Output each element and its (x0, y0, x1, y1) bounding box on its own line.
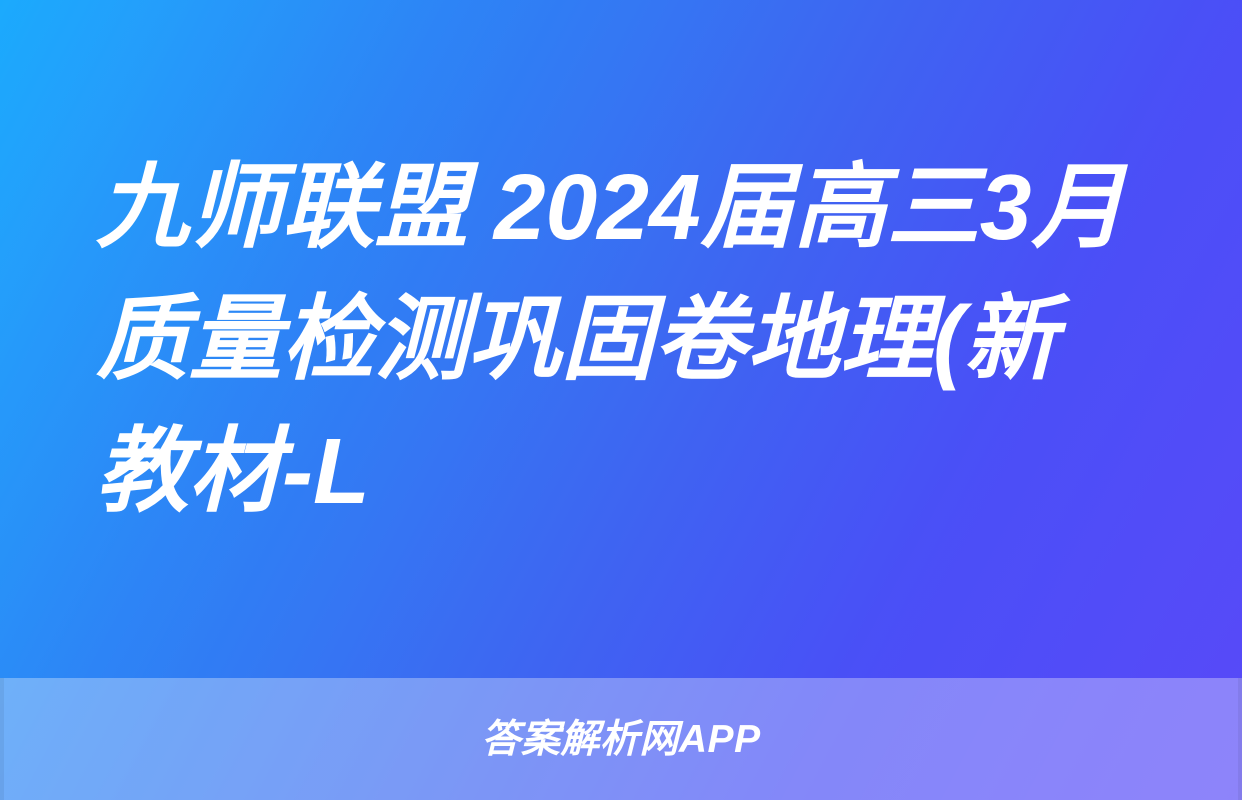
watermark-band: 答案解析网APP (0, 678, 1242, 800)
band-left-edge (0, 678, 4, 800)
app-watermark-label: 答案解析网APP (481, 720, 760, 759)
band-right-edge (1238, 678, 1242, 800)
banner-title-area: 九师联盟 2024届高三3月质量检测巩固卷地理(新教材-L (0, 0, 1242, 678)
exam-paper-banner: 九师联盟 2024届高三3月质量检测巩固卷地理(新教材-L 答案解析网APP (0, 0, 1242, 800)
page-title: 九师联盟 2024届高三3月质量检测巩固卷地理(新教材-L (96, 141, 1146, 537)
